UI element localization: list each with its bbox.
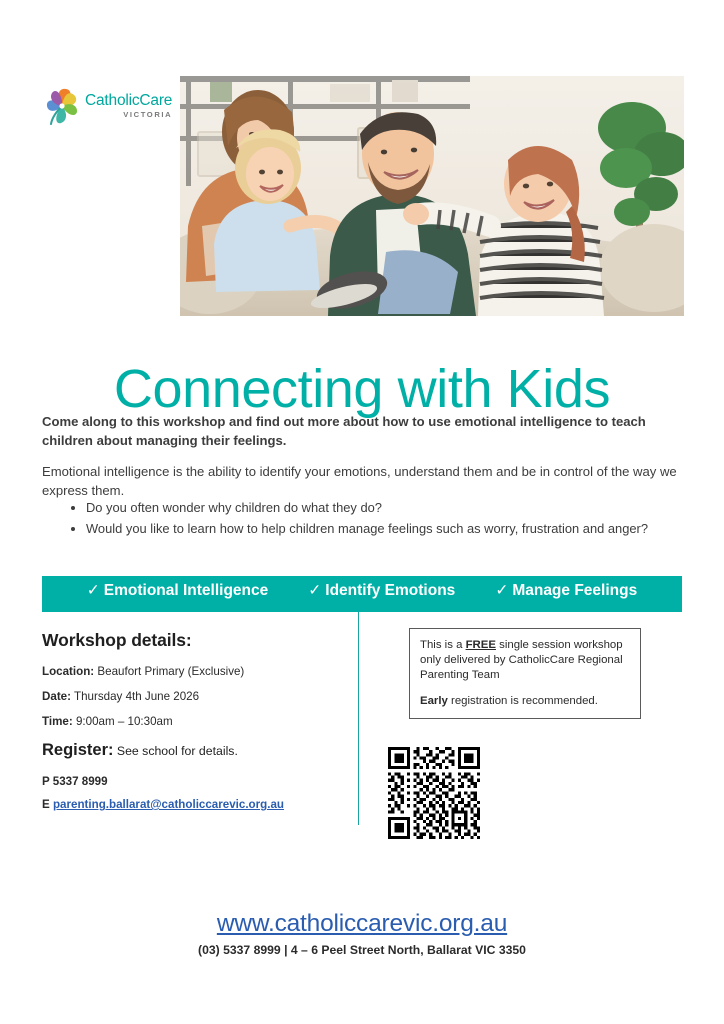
phone-number: 5337 8999 (53, 775, 108, 788)
contact-email-row: E parenting.ballarat@catholiccarevic.org… (42, 798, 352, 811)
email-link[interactable]: parenting.ballarat@catholiccarevic.org.a… (53, 798, 284, 811)
free-workshop-info-box: This is a FREE single session workshop o… (409, 628, 641, 719)
butterfly-leaf-logo-icon (46, 87, 80, 125)
infobox-early-text: Early registration is recommended. (420, 694, 631, 709)
banner-label: Identify Emotions (325, 582, 455, 599)
question-bullet-list: Do you often wonder why children do what… (42, 498, 724, 539)
banner-label: Emotional Intelligence (104, 582, 269, 599)
page-title: Connecting with Kids (0, 362, 724, 416)
banner-item-manage-feelings: ✓Manage Feelings (495, 581, 637, 600)
details-heading: Workshop details: (42, 630, 342, 651)
detail-location-value: Beaufort Primary (Exclusive) (97, 665, 244, 678)
contact-phone-row: P 5337 8999 (42, 775, 352, 788)
banner-label: Manage Feelings (512, 582, 637, 599)
detail-date-label: Date: (42, 690, 71, 703)
lead-paragraph: Come along to this workshop and find out… (42, 413, 682, 450)
qr-code[interactable] (388, 747, 480, 839)
detail-register: Register: See school for details. (42, 741, 342, 760)
infobox-main-text: This is a FREE single session workshop o… (420, 638, 631, 683)
detail-date-value: Thursday 4th June 2026 (74, 690, 199, 703)
infobox-text-pre: This is a (420, 639, 466, 651)
check-icon: ✓ (87, 582, 100, 599)
vertical-divider (358, 612, 359, 825)
infobox-early-rest: registration is recommended. (448, 695, 598, 707)
page-footer: www.catholiccarevic.org.au (03) 5337 899… (0, 910, 724, 957)
detail-location-label: Location: (42, 665, 94, 678)
email-prefix: E (42, 798, 50, 811)
logo-word-catholic: Catholic (85, 92, 139, 109)
catholiccare-logo: CatholicCare VICTORIA (46, 84, 178, 128)
banner-item-emotional-intelligence: ✓Emotional Intelligence (87, 581, 269, 600)
detail-register-label: Register: (42, 741, 114, 759)
page-header: CatholicCare VICTORIA (0, 0, 724, 320)
detail-date: Date: Thursday 4th June 2026 (42, 690, 342, 704)
detail-location: Location: Beaufort Primary (Exclusive) (42, 665, 342, 679)
detail-time-label: Time: (42, 715, 73, 728)
features-banner: ✓Emotional Intelligence ✓Identify Emotio… (42, 576, 682, 612)
list-item: Do you often wonder why children do what… (86, 498, 724, 518)
banner-item-identify-emotions: ✓Identify Emotions (308, 581, 455, 600)
check-icon: ✓ (308, 582, 321, 599)
phone-prefix: P (42, 775, 50, 788)
contact-block: P 5337 8999 E parenting.ballarat@catholi… (42, 775, 352, 821)
list-item: Would you like to learn how to help chil… (86, 519, 724, 539)
detail-time-value: 9:00am – 10:30am (76, 715, 173, 728)
website-link[interactable]: www.catholiccarevic.org.au (217, 910, 507, 938)
workshop-details-block: Workshop details: Location: Beaufort Pri… (42, 630, 342, 760)
infobox-free-emphasis: FREE (466, 639, 496, 651)
logo-wordmark: CatholicCare (85, 93, 172, 109)
body-paragraph: Emotional intelligence is the ability to… (42, 463, 682, 500)
hero-image (180, 76, 684, 316)
footer-address: (03) 5337 8999 | 4 – 6 Peel Street North… (0, 943, 724, 957)
infobox-early-emphasis: Early (420, 695, 448, 707)
detail-register-value: See school for details. (117, 744, 238, 758)
check-icon: ✓ (495, 582, 508, 599)
logo-word-care: Care (139, 92, 172, 109)
logo-subtitle: VICTORIA (85, 111, 172, 119)
detail-time: Time: 9:00am – 10:30am (42, 715, 342, 729)
